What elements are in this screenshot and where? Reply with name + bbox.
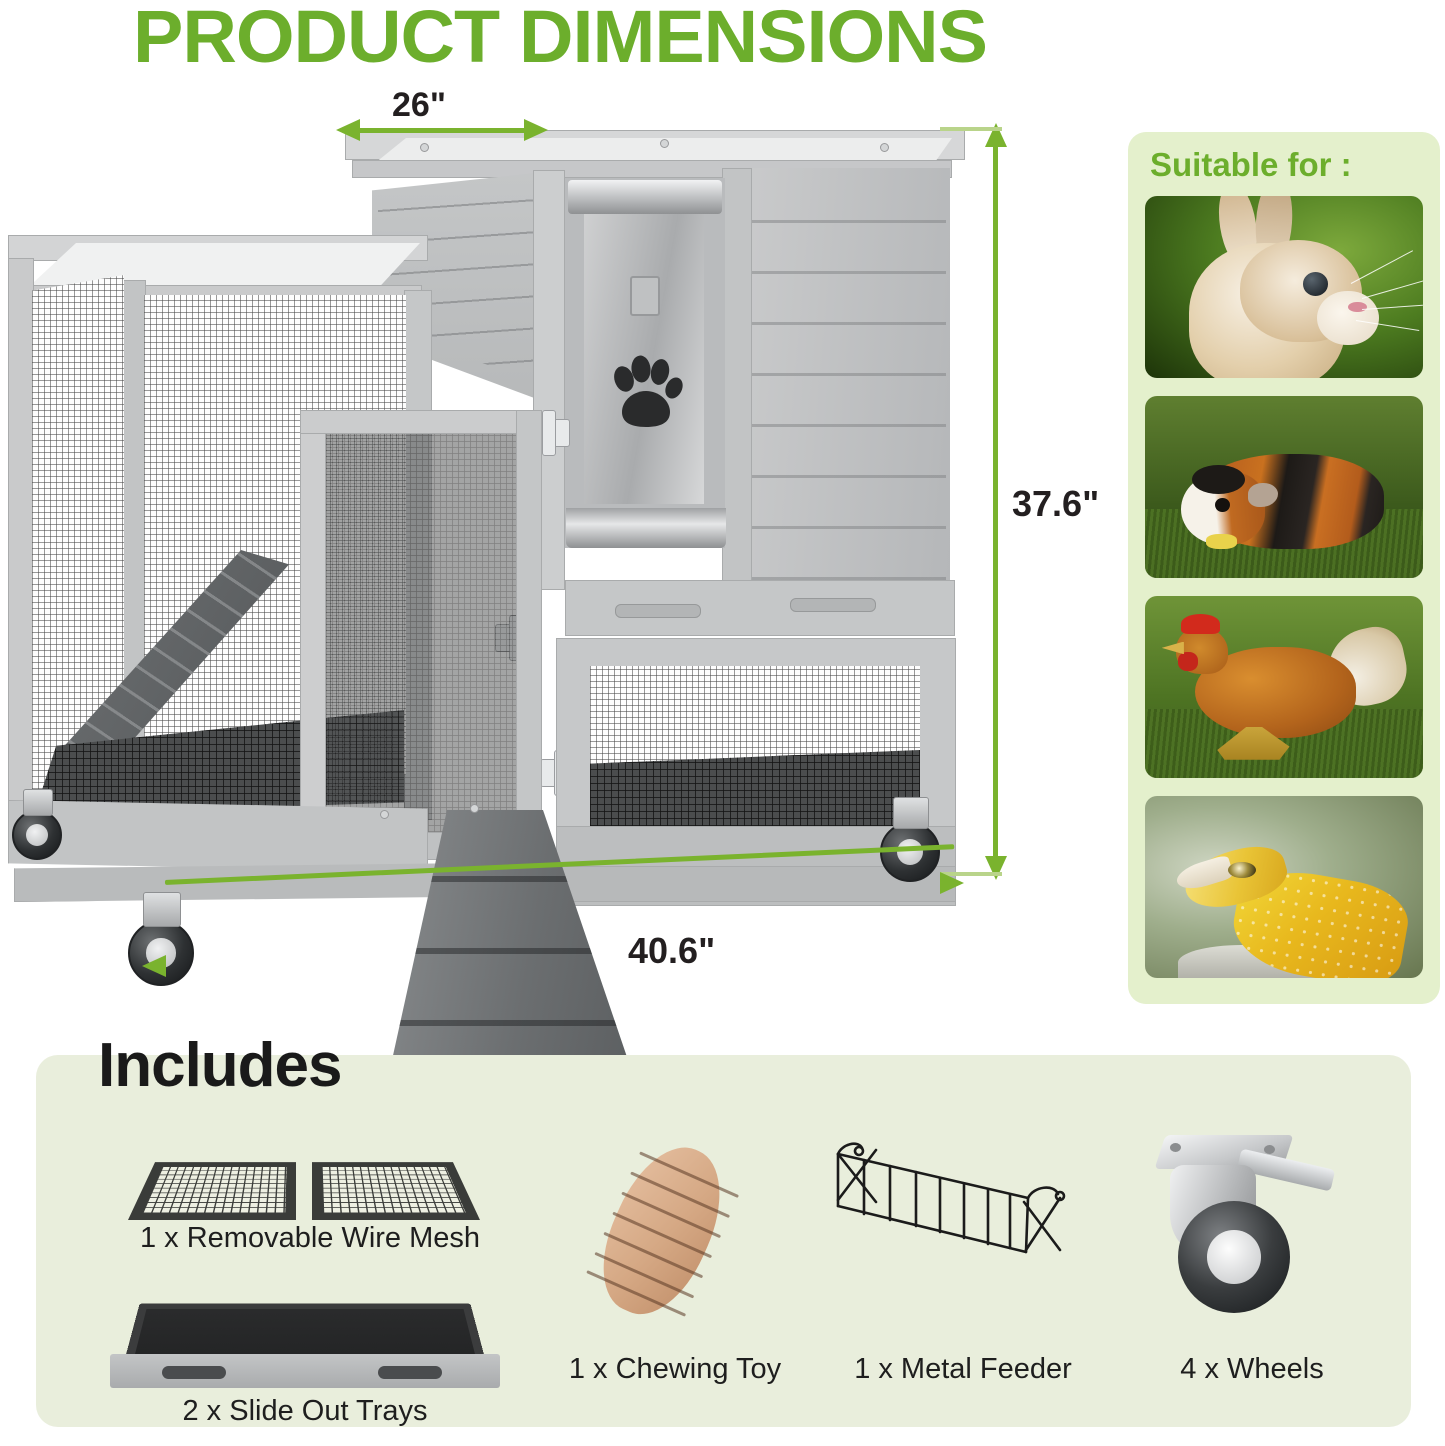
animal-photo-chicken (1145, 596, 1423, 778)
animal-photo-rabbit (1145, 196, 1423, 378)
guinea-pig-food (1206, 534, 1237, 549)
dimension-tick (940, 127, 1002, 131)
base-skirt (8, 800, 428, 872)
chew-toy-groove (630, 1171, 730, 1217)
tray-handle (162, 1366, 226, 1379)
run-door-frame-top (300, 410, 540, 434)
gecko-eye (1228, 862, 1256, 878)
hutch-center-post-right (722, 168, 752, 588)
paw-print-icon (608, 355, 684, 433)
caster-bolt-hole (1170, 1143, 1181, 1152)
chicken-beak (1162, 642, 1184, 655)
caster-bolt-hole (1264, 1145, 1275, 1154)
rabbit-muzzle (1317, 291, 1378, 346)
chew-toy-groove (604, 1232, 704, 1278)
arrow-head-right-icon (940, 872, 964, 894)
chew-toy-groove (612, 1212, 712, 1258)
caster-stem (143, 892, 182, 927)
chicken-comb (1181, 614, 1220, 634)
animal-photo-leopard-gecko (1145, 796, 1423, 978)
screw-icon (880, 143, 889, 152)
caster-wheel-rear-left (12, 810, 62, 860)
chew-toy-groove (621, 1192, 721, 1238)
dimension-width-arrow (358, 128, 528, 133)
wire-mesh-panel (128, 1162, 296, 1220)
run-door-mesh (326, 434, 516, 832)
paw-door-top-rail (568, 180, 722, 214)
paw-door-bottom-rail (566, 508, 726, 548)
guinea-pig-eye (1215, 498, 1230, 513)
page-title: PRODUCT DIMENSIONS (0, 0, 1131, 79)
screw-icon (420, 143, 429, 152)
suitable-for-panel: Suitable for : (1128, 132, 1440, 1004)
chicken-wattle (1178, 652, 1197, 670)
door-latch-slot[interactable] (630, 276, 660, 316)
suitable-for-title: Suitable for : (1150, 146, 1352, 184)
arrow-head-right-icon (524, 119, 548, 141)
dimension-width-label: 26" (392, 86, 446, 125)
animal-photo-guinea-pig (1145, 396, 1423, 578)
dimension-height-label: 37.6" (1012, 483, 1099, 525)
dimension-depth-label: 40.6" (628, 930, 715, 972)
run-door[interactable] (300, 410, 326, 860)
arrow-head-left-icon (336, 119, 360, 141)
chew-toy-groove (639, 1151, 739, 1197)
includes-item-label-feeder: 1 x Metal Feeder (828, 1353, 1098, 1386)
caster-wheel-icon (1152, 1135, 1342, 1320)
screw-icon (470, 804, 479, 813)
wire-mesh-icon (128, 1108, 488, 1220)
caster-stem (23, 789, 53, 816)
caster-tire (1178, 1201, 1290, 1313)
rabbit-whisker (1350, 251, 1412, 285)
drawer-handle-right[interactable] (790, 598, 876, 612)
tray-front-panel (110, 1354, 500, 1388)
includes-item-label-wire-mesh: 1 x Removable Wire Mesh (105, 1222, 515, 1255)
caster-stem (893, 797, 929, 829)
arrow-head-left-icon (142, 955, 166, 977)
chewing-toy-icon (590, 1135, 750, 1325)
chew-toy-groove (586, 1270, 686, 1316)
screw-icon (660, 139, 669, 148)
arrow-head-down-icon (985, 856, 1007, 880)
rabbit-whisker (1362, 280, 1423, 299)
run-door-stile (516, 410, 542, 860)
tray-handle (378, 1366, 442, 1379)
slide-out-tray-icon (110, 1270, 500, 1388)
includes-item-label-wheels: 4 x Wheels (1152, 1353, 1352, 1386)
includes-title: Includes (98, 1030, 342, 1101)
siding-lines-right (748, 172, 946, 582)
dimension-height-arrow (993, 145, 998, 860)
includes-item-label-trays: 2 x Slide Out Trays (125, 1395, 485, 1428)
metal-feeder-icon (828, 1140, 1090, 1315)
product-illustration (0, 110, 1010, 1020)
caster-hub (26, 824, 48, 846)
drawer-handle-left[interactable] (615, 604, 701, 618)
screw-icon (380, 810, 389, 819)
run-post-left (8, 258, 34, 818)
includes-item-label-chew-toy: 1 x Chewing Toy (540, 1353, 810, 1386)
chew-toy-body (583, 1131, 742, 1330)
wire-mesh-panel (312, 1162, 480, 1220)
chew-toy-groove (595, 1252, 695, 1298)
